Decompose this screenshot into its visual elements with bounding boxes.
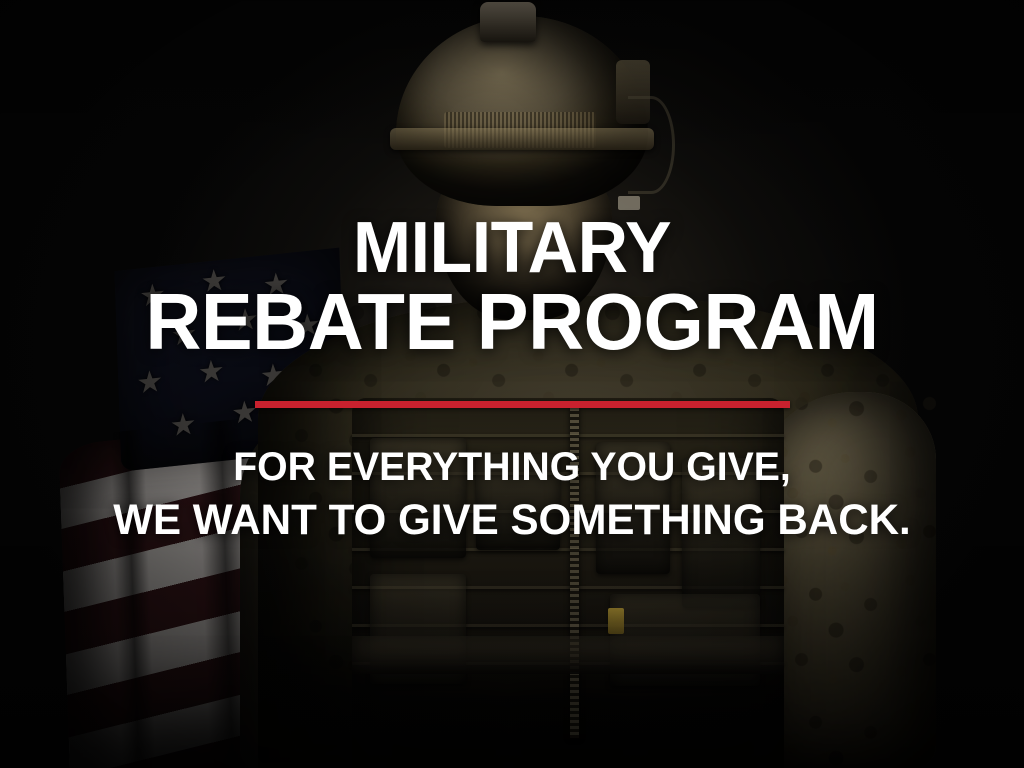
vest-pouch xyxy=(476,454,560,550)
vest-pouch xyxy=(370,438,466,558)
yellow-pull-tab xyxy=(608,608,624,634)
camo-pattern xyxy=(758,392,936,768)
helmet-rail xyxy=(390,128,654,150)
helmet-cable xyxy=(628,96,675,194)
vest-pouch xyxy=(682,458,760,608)
background-photo xyxy=(0,0,1024,768)
molle-webbing-row xyxy=(352,434,784,437)
helmet-patch xyxy=(618,196,640,210)
vest-zipper xyxy=(570,408,579,738)
soldier-right-arm xyxy=(758,392,936,768)
poster: MILITARY REBATE PROGRAM FOR EVERYTHING Y… xyxy=(0,0,1024,768)
vest-belt xyxy=(352,636,784,674)
plate-carrier-vest xyxy=(352,398,784,768)
nvg-mount-icon xyxy=(480,2,536,42)
vest-pouch xyxy=(596,442,670,574)
